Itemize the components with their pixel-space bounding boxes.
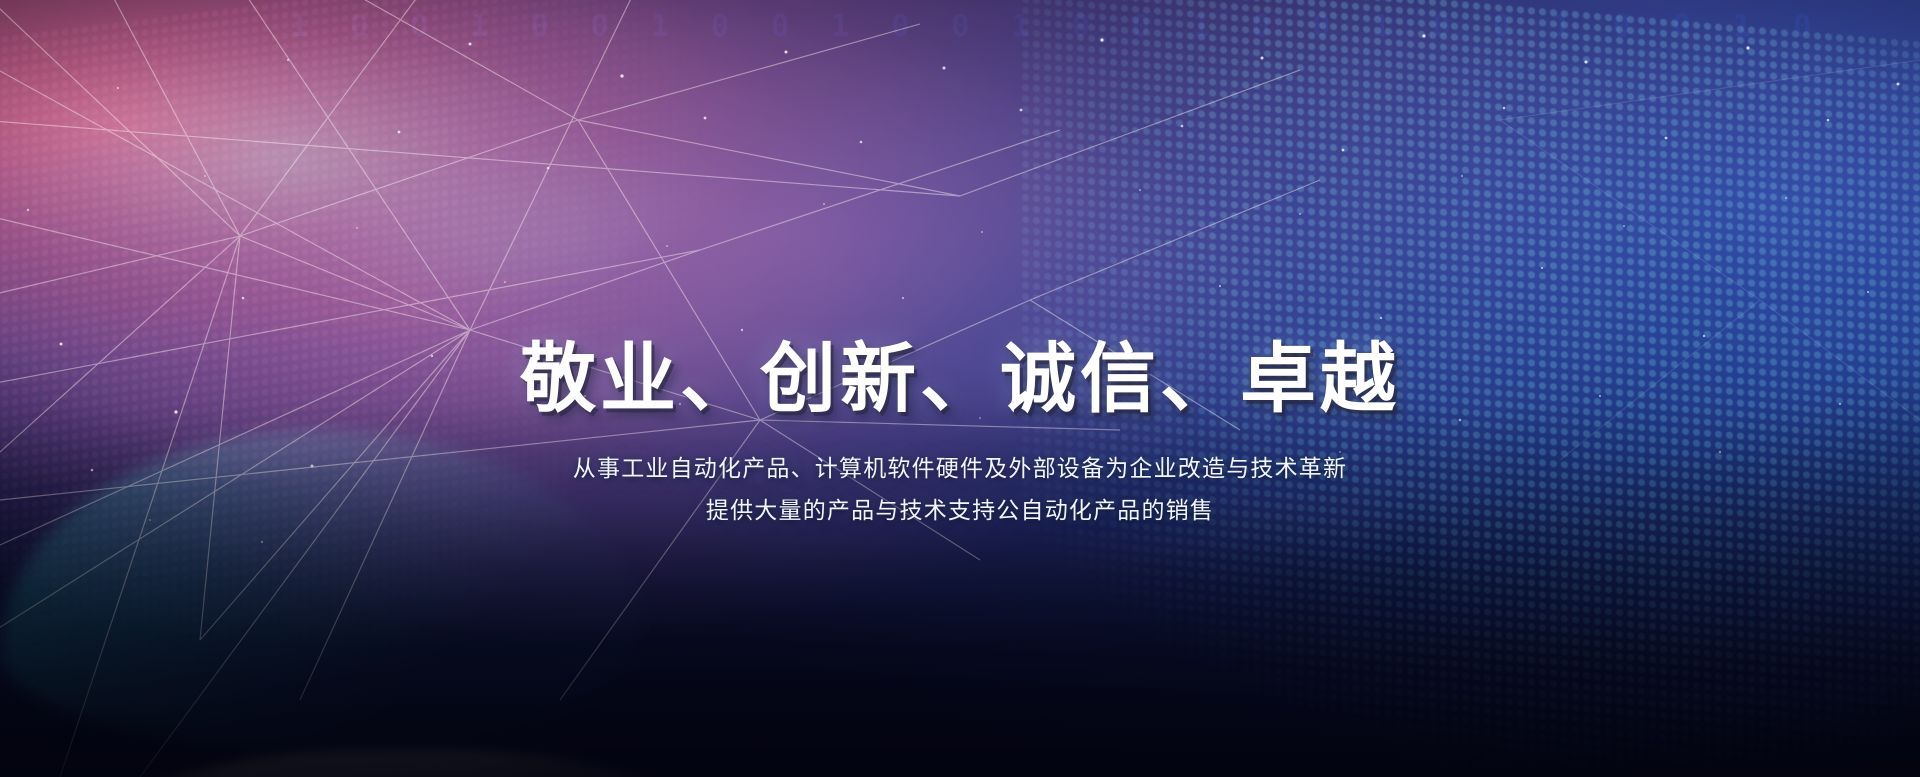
corporate-hero-banner: 1 0 0 1 0 0 1 0 0 1 0 0 1 0 0 1 0 0 1 0 … <box>0 0 1920 777</box>
vignette-overlay <box>0 0 1920 777</box>
